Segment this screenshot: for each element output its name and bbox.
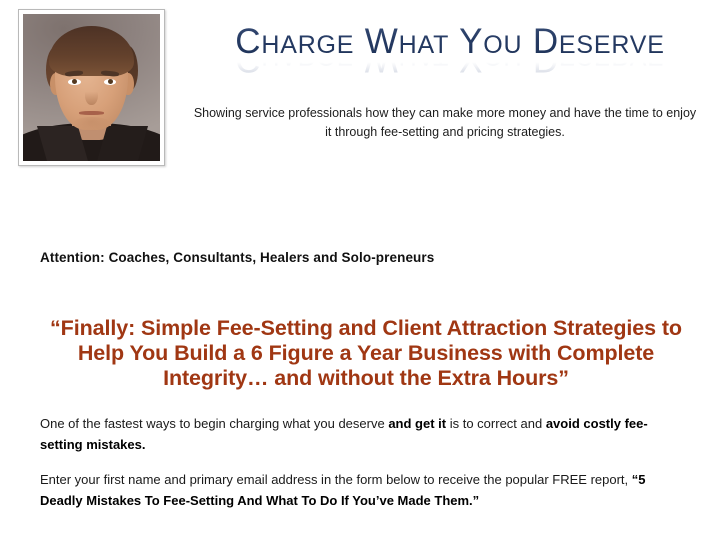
photo-eye-right xyxy=(104,79,116,85)
body-paragraph-2: Enter your first name and primary email … xyxy=(40,469,660,511)
site-logo: Charge What You Deserve Charge What You … xyxy=(180,22,720,79)
attention-line: Attention: Coaches, Consultants, Healers… xyxy=(40,250,434,265)
logo-title: Charge What You Deserve xyxy=(180,22,720,62)
photo-eye-left xyxy=(68,79,80,85)
author-photo-frame xyxy=(18,9,165,166)
paragraph-1-text-1: One of the fastest ways to begin chargin… xyxy=(40,416,388,431)
paragraph-2-text-1: Enter your first name and primary email … xyxy=(40,472,632,487)
page-header: Charge What You Deserve Charge What You … xyxy=(0,0,727,185)
body-paragraph-1: One of the fastest ways to begin chargin… xyxy=(40,413,660,455)
paragraph-1-text-2: is to correct and xyxy=(446,416,546,431)
site-tagline: Showing service professionals how they c… xyxy=(190,104,700,142)
logo-title-reflection: Charge What You Deserve xyxy=(180,61,720,79)
photo-nose xyxy=(85,86,97,105)
author-headshot xyxy=(23,14,160,161)
photo-chin xyxy=(72,117,110,132)
photo-mouth xyxy=(79,111,104,115)
paragraph-1-bold-1: and get it xyxy=(388,416,446,431)
page-headline: “Finally: Simple Fee-Setting and Client … xyxy=(36,316,696,391)
